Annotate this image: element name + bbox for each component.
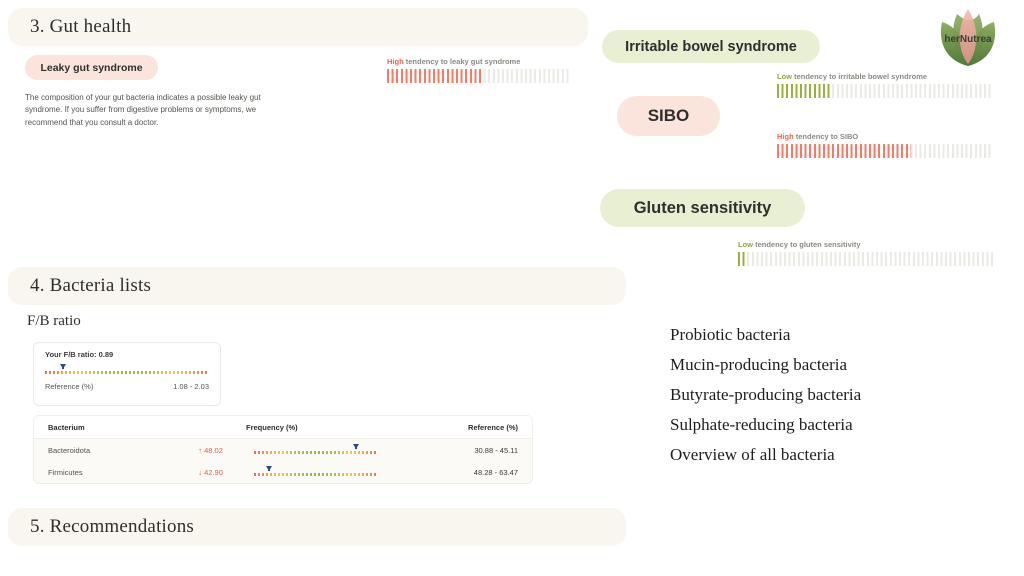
column-header-frequency: Frequency (%) xyxy=(198,423,426,432)
table-row: Bacteroidota ↑ 48.02 30.88 - 45.11 xyxy=(34,439,532,461)
fb-ratio-reference-row: Reference (%) 1.08 - 2.03 xyxy=(45,382,209,391)
meter-irritable-bowel-syndrome: Low tendency to irritable bowel syndrome xyxy=(777,72,993,98)
brand-logo: herNutrea xyxy=(930,6,1006,68)
meter-gluten-level: Low xyxy=(738,240,753,249)
pill-leaky-gut-syndrome: Leaky gut syndrome xyxy=(25,55,158,80)
pill-gluten-sensitivity: Gluten sensitivity xyxy=(600,189,805,227)
column-header-bacterium: Bacterium xyxy=(48,423,198,432)
row-frequency-number: 42.90 xyxy=(204,468,223,477)
page-title-bacteria-lists: 4. Bacteria lists xyxy=(8,275,151,297)
list-item-overview-of-all-bacteria[interactable]: Overview of all bacteria xyxy=(670,440,1000,470)
meter-ibs-fill xyxy=(777,84,831,98)
list-item-butyrate-producing-bacteria[interactable]: Butyrate-producing bacteria xyxy=(670,380,1000,410)
row-bacterium-name: Bacteroidota xyxy=(48,446,198,455)
meter-sibo-track xyxy=(777,144,993,158)
row-scale-track xyxy=(254,473,378,476)
fb-ratio-card: Your F/B ratio: 0.89 Reference (%) 1.08 … xyxy=(33,342,221,406)
arrow-up-icon: ↑ xyxy=(198,446,202,455)
section-header-recommendations: 5. Recommendations xyxy=(8,508,626,546)
pill-gluten-label: Gluten sensitivity xyxy=(634,199,772,218)
row-scale-marker xyxy=(353,444,359,449)
list-item-sulphate-reducing-bacteria[interactable]: Sulphate-reducing bacteria xyxy=(670,410,1000,440)
fb-ratio-title: F/B ratio xyxy=(27,313,81,330)
meter-sibo-level: High xyxy=(777,132,794,141)
row-bacterium-name: Firmicutes xyxy=(48,468,198,477)
meter-sibo-label: High tendency to SIBO xyxy=(777,132,993,141)
pill-irritable-bowel-syndrome: Irritable bowel syndrome xyxy=(602,30,820,63)
page-title-gut-health: 3. Gut health xyxy=(8,16,131,38)
meter-leaky-gut-text: tendency to leaky gut syndrome xyxy=(404,57,521,66)
row-frequency-cell: ↑ 48.02 xyxy=(198,444,378,456)
meter-leaky-gut-track xyxy=(387,69,569,83)
list-item-mucin-producing-bacteria[interactable]: Mucin-producing bacteria xyxy=(670,350,1000,380)
list-item-probiotic-bacteria[interactable]: Probiotic bacteria xyxy=(670,320,1000,350)
row-frequency-value: ↓ 42.90 xyxy=(198,468,250,477)
meter-ibs-text: tendency to irritable bowel syndrome xyxy=(792,72,927,81)
fb-ratio-marker xyxy=(60,364,66,369)
section-header-bacteria-lists: 4. Bacteria lists xyxy=(8,267,626,305)
row-scale xyxy=(254,466,378,478)
brand-name: herNutrea xyxy=(944,34,992,45)
meter-gluten-track xyxy=(738,252,993,266)
row-frequency-value: ↑ 48.02 xyxy=(198,446,250,455)
pill-sibo-label: SIBO xyxy=(648,106,690,126)
meter-leaky-gut-fill xyxy=(387,69,482,83)
column-header-reference: Reference (%) xyxy=(426,423,518,432)
table-row: Firmicutes ↓ 42.90 48.28 - 63.47 xyxy=(34,461,532,483)
fb-ratio-reference-label: Reference (%) xyxy=(45,382,93,391)
row-scale-marker xyxy=(266,466,272,471)
row-frequency-number: 48.02 xyxy=(204,446,223,455)
row-scale-track xyxy=(254,451,378,454)
bacteria-table: Bacterium Frequency (%) Reference (%) Ba… xyxy=(33,415,533,484)
meter-leaky-gut: High tendency to leaky gut syndrome xyxy=(387,57,569,83)
meter-sibo: High tendency to SIBO xyxy=(777,132,993,158)
pill-leaky-gut-label: Leaky gut syndrome xyxy=(40,62,142,74)
row-reference-range: 30.88 - 45.11 xyxy=(378,446,518,455)
meter-gluten-text: tendency to gluten sensitivity xyxy=(753,240,861,249)
fb-ratio-reference-range: 1.08 - 2.03 xyxy=(173,382,209,391)
meter-ibs-level: Low xyxy=(777,72,792,81)
row-reference-range: 48.28 - 63.47 xyxy=(378,468,518,477)
meter-leaky-gut-level: High xyxy=(387,57,404,66)
arrow-down-icon: ↓ xyxy=(198,468,202,477)
section-header-gut-health: 3. Gut health xyxy=(8,8,588,46)
pill-sibo: SIBO xyxy=(617,96,720,136)
meter-gluten-fill xyxy=(738,252,746,266)
meter-sibo-text: tendency to SIBO xyxy=(794,132,859,141)
meter-leaky-gut-label: High tendency to leaky gut syndrome xyxy=(387,57,569,66)
meter-sibo-fill xyxy=(777,144,911,158)
bacteria-menu-list: Probiotic bacteria Mucin-producing bacte… xyxy=(670,320,1000,470)
table-header-row: Bacterium Frequency (%) Reference (%) xyxy=(34,416,532,439)
pill-ibs-label: Irritable bowel syndrome xyxy=(625,39,797,55)
meter-gluten-label: Low tendency to gluten sensitivity xyxy=(738,240,993,249)
meter-ibs-label: Low tendency to irritable bowel syndrome xyxy=(777,72,993,81)
lotus-flower-icon: herNutrea xyxy=(930,6,1006,68)
meter-gluten-sensitivity: Low tendency to gluten sensitivity xyxy=(738,240,993,266)
fb-ratio-scale xyxy=(45,364,209,377)
meter-ibs-track xyxy=(777,84,993,98)
leaky-gut-description: The composition of your gut bacteria ind… xyxy=(25,92,280,129)
page-title-recommendations: 5. Recommendations xyxy=(8,516,194,538)
fb-ratio-value-label: Your F/B ratio: 0.89 xyxy=(45,350,209,359)
fb-ratio-scale-track xyxy=(45,371,209,374)
row-frequency-cell: ↓ 42.90 xyxy=(198,466,378,478)
row-scale xyxy=(254,444,378,456)
